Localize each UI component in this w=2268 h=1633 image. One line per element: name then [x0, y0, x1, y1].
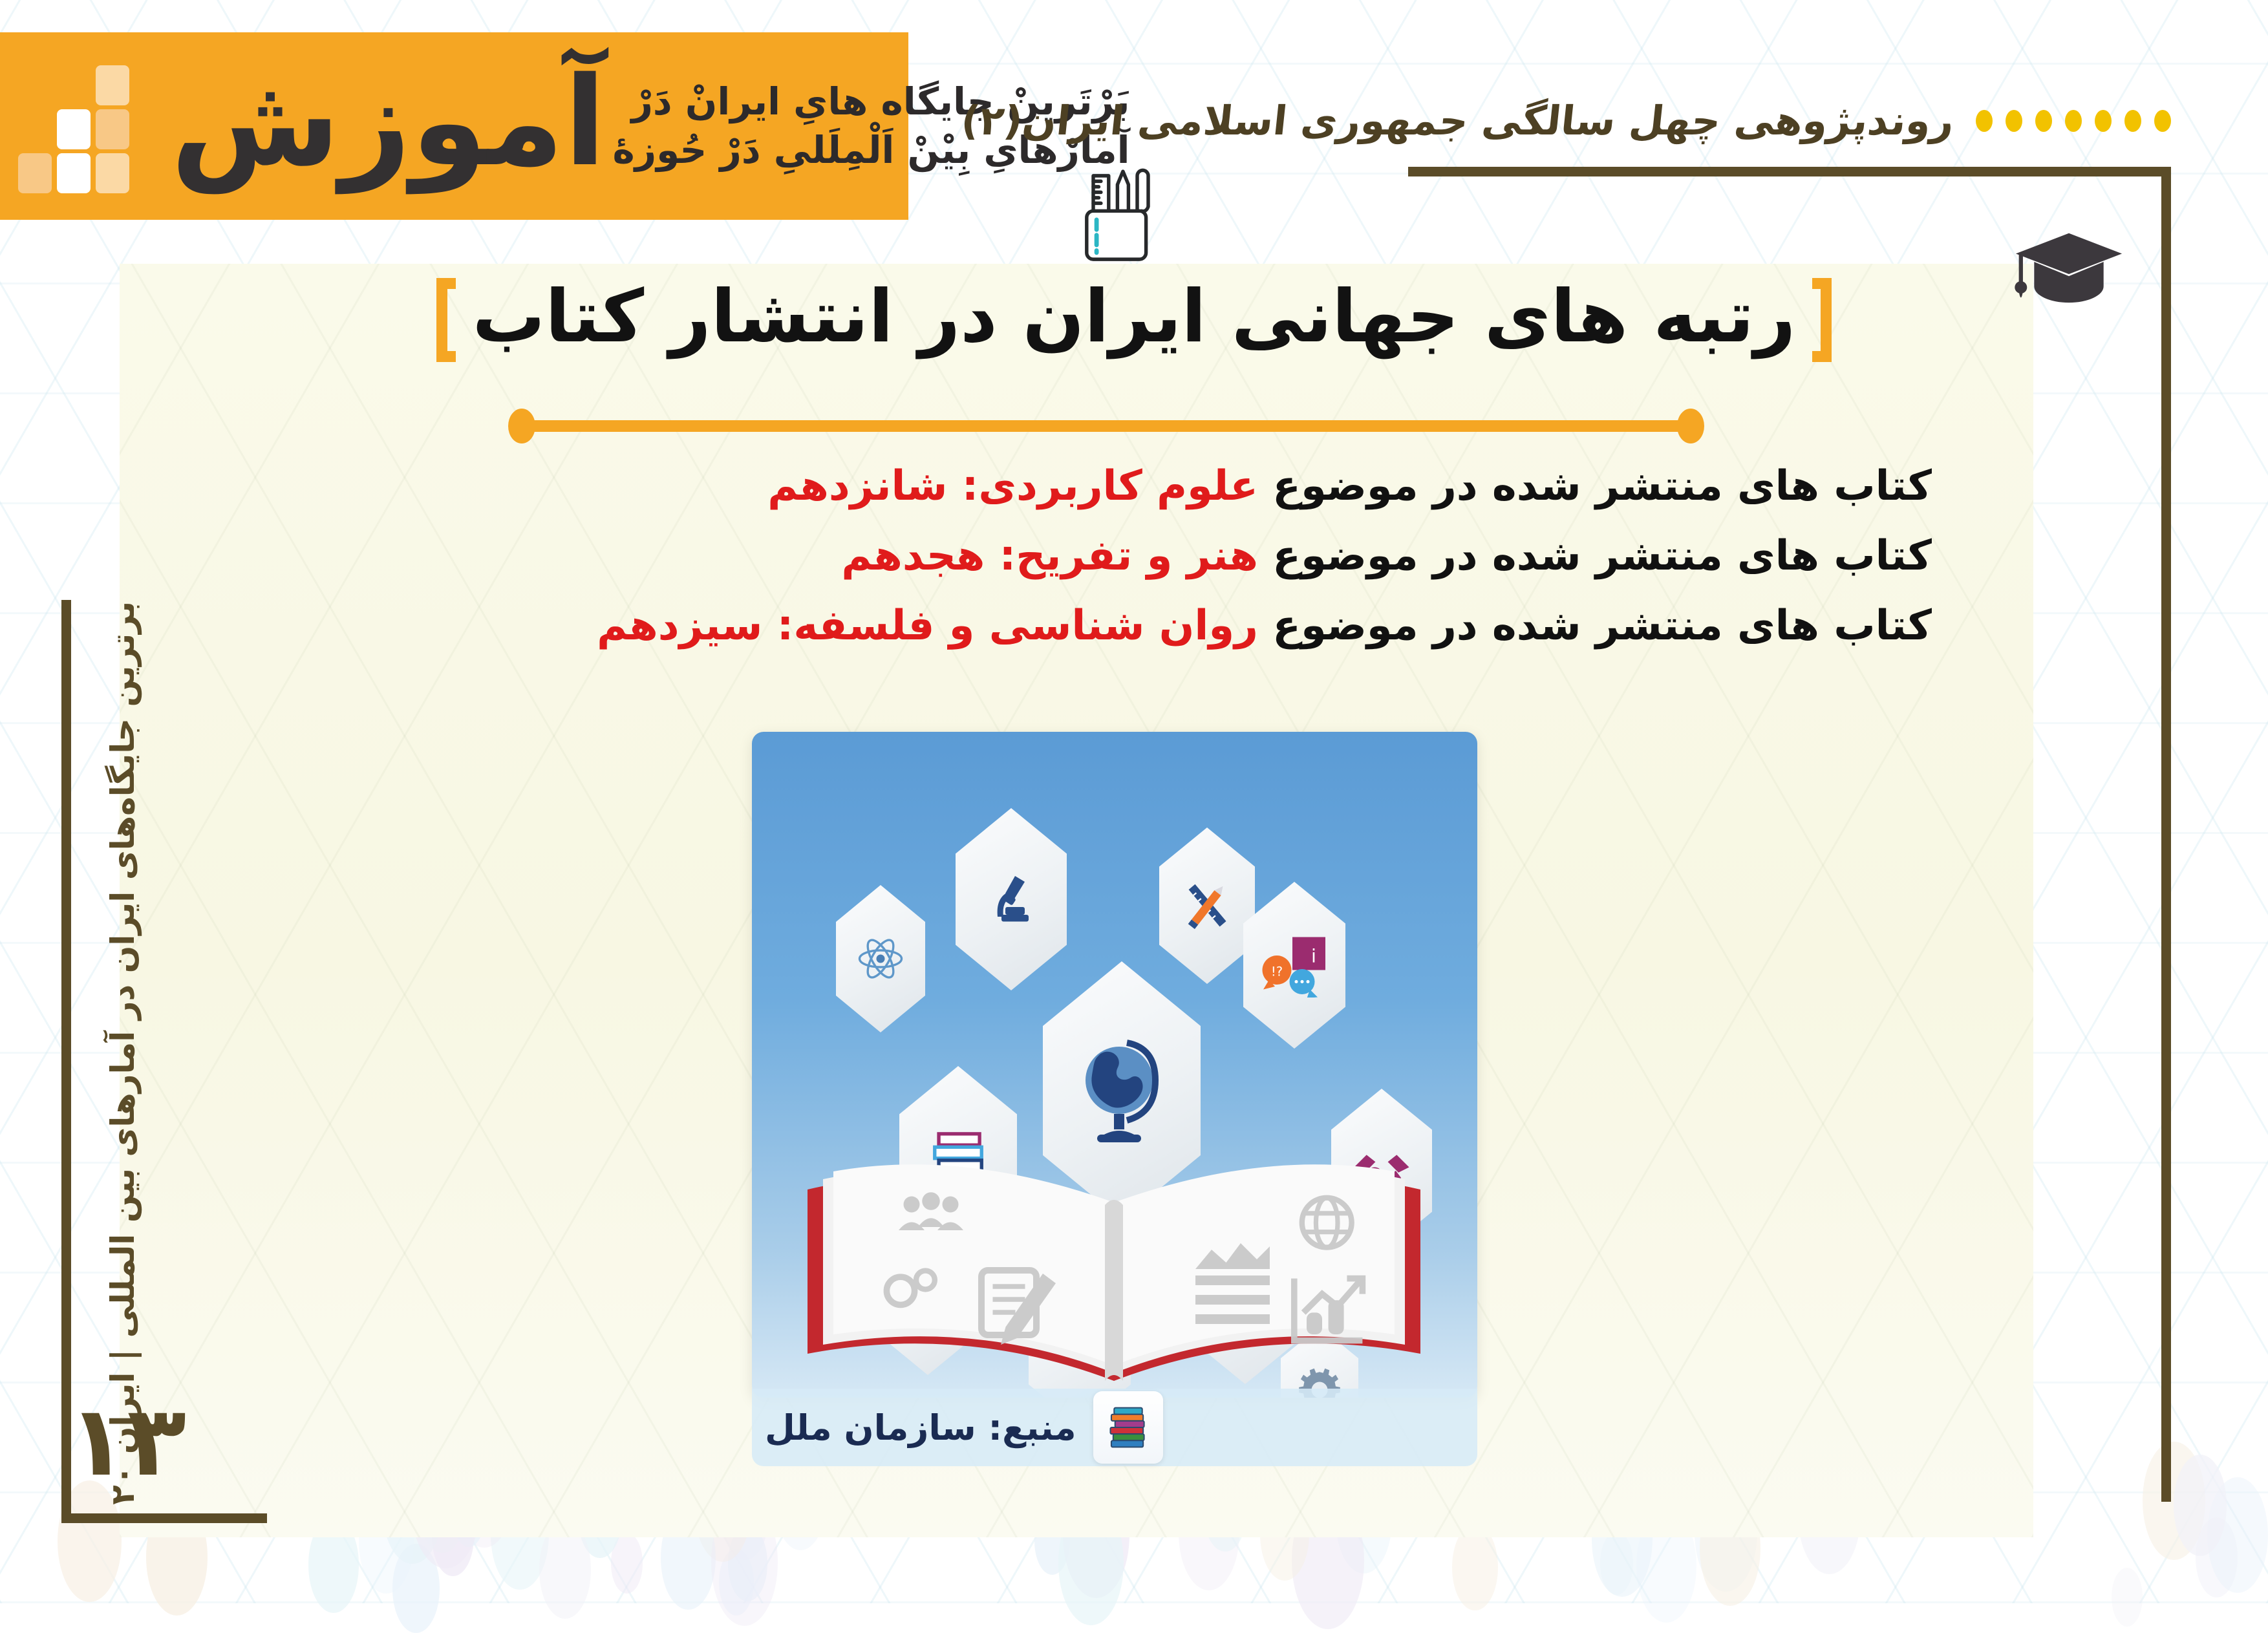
page-title-row: رتبه های جهانی ایران در انتشار کتاب	[0, 278, 2268, 362]
hex-speech-bubbles: i ?!	[1243, 882, 1345, 1049]
title-divider	[521, 420, 1691, 432]
sidebar-vertical-label: برترین جایگاه‌های ایران در آمارهای بین ا…	[104, 601, 142, 1505]
microscope-icon	[980, 868, 1042, 930]
statement-item: کتاب های منتشر شده در موضوع هنر و تفریح:…	[597, 535, 1932, 577]
brand-wordmark: آموزش	[171, 66, 606, 179]
statement-highlight: هنر و تفریح: هجدهم	[841, 532, 1258, 580]
title-bracket-open	[1812, 278, 1832, 362]
ruler-pencil-icon	[1177, 876, 1237, 935]
series-header: روندپژوهی چهل سالگی جمهوری اسلامی ایران(…	[961, 97, 2171, 144]
hex-microscope	[956, 808, 1067, 990]
statement-list: کتاب های منتشر شده در موضوع علوم کاربردی…	[597, 465, 1932, 675]
statement-highlight: روان شناسی و فلسفه: سیزدهم	[597, 602, 1258, 650]
books-stack-icon	[1093, 1391, 1163, 1464]
source-label: منبع: سازمان ملل	[765, 1407, 1076, 1448]
logo-bars-icon	[26, 61, 155, 191]
page-number: ۱۳	[68, 1393, 186, 1490]
svg-text:i: i	[1311, 946, 1316, 967]
speech-bubbles-icon: i ?!	[1259, 933, 1329, 998]
svg-text:?!: ?!	[1271, 965, 1283, 979]
statement-prefix: کتاب های منتشر شده در موضوع	[1258, 462, 1932, 510]
hex-ruler-pencil	[1159, 827, 1255, 984]
central-illustration: i ?!	[752, 732, 1477, 1398]
series-header-title: روندپژوهی چهل سالگی جمهوری اسلامی ایران(…	[959, 97, 1956, 144]
open-book-illustration	[784, 1127, 1444, 1398]
header-rule	[1408, 167, 2168, 176]
brand-logo-banner: بَرْتَرینْ جایگاه هایِ ایرانْ دَرْ آمارْ…	[0, 32, 908, 220]
hex-atom	[836, 885, 925, 1032]
statement-highlight: علوم کاربردی: شانزدهم	[767, 462, 1258, 510]
sidebar-vertical-strip: برترین جایگاه‌های ایران در آمارهای بین ا…	[78, 601, 168, 1519]
pencil-cup-icon	[1060, 160, 1170, 266]
statement-item: کتاب های منتشر شده در موضوع روان شناسی و…	[597, 605, 1932, 646]
header-dots-decor	[1976, 110, 2171, 132]
frame-left-border	[61, 600, 71, 1523]
statement-prefix: کتاب های منتشر شده در موضوع	[1258, 532, 1932, 580]
atom-icon	[855, 934, 906, 984]
frame-right-border	[2161, 167, 2171, 1502]
statement-prefix: کتاب های منتشر شده در موضوع	[1258, 602, 1932, 650]
statement-item: کتاب های منتشر شده در موضوع علوم کاربردی…	[597, 465, 1932, 507]
source-badge: منبع: سازمان ملل	[752, 1389, 1477, 1466]
page-title: رتبه های جهانی ایران در انتشار کتاب	[473, 281, 1796, 359]
title-bracket-close	[436, 278, 456, 362]
